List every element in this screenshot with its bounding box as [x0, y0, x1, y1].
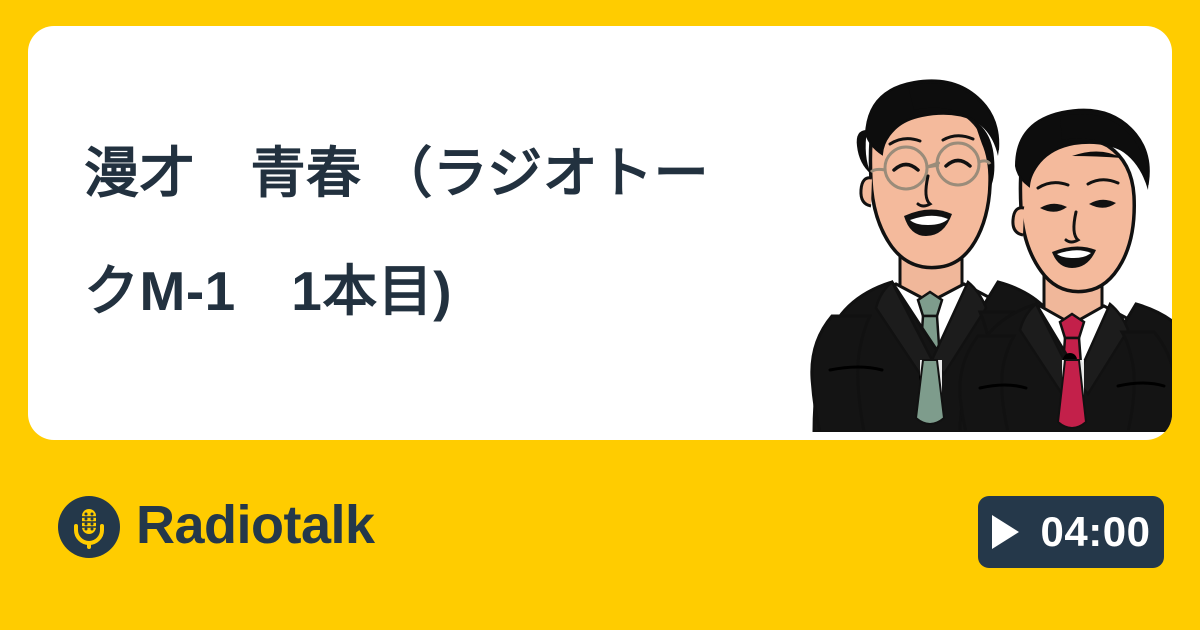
episode-title: 漫才 青春 （ラジオトークM-1 1本目): [84, 114, 744, 350]
play-icon: [992, 515, 1019, 549]
play-duration-badge[interactable]: 04:00: [978, 496, 1164, 568]
episode-card: 漫才 青春 （ラジオトークM-1 1本目): [28, 26, 1172, 440]
microphone-icon: [58, 496, 120, 558]
two-men-in-suits-illustration: [788, 60, 1172, 432]
footer-bar: Radiotalk 04:00: [0, 440, 1200, 630]
duration-text: 04:00: [1041, 511, 1151, 553]
brand-name: Radiotalk: [136, 498, 375, 556]
radiotalk-brand[interactable]: Radiotalk: [58, 496, 375, 558]
